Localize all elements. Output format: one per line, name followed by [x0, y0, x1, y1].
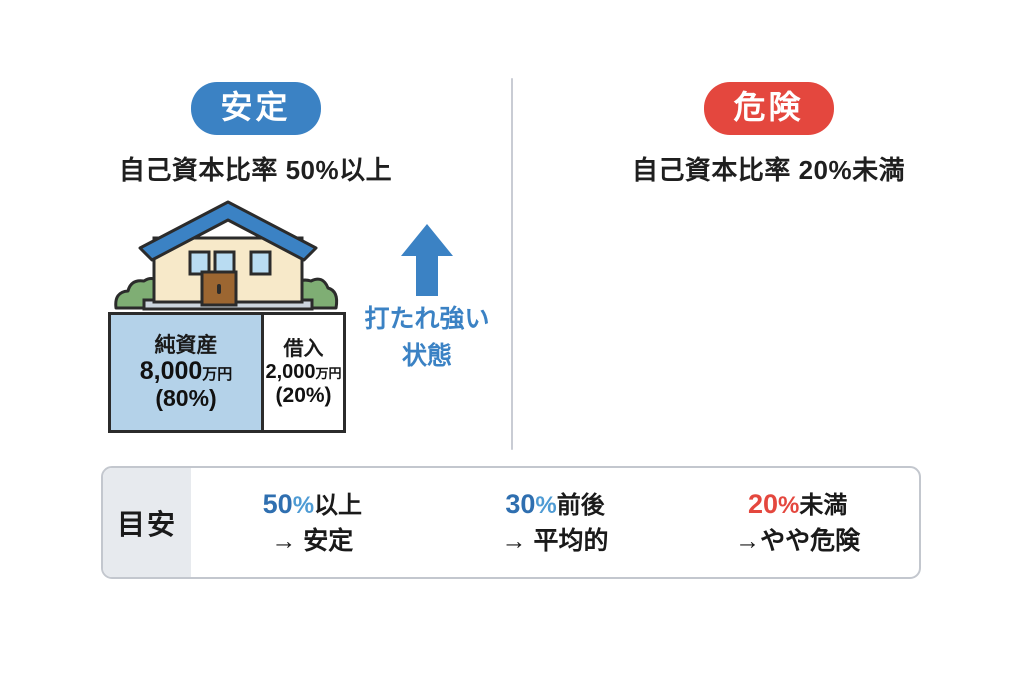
guideline-suffix-30: 前後	[557, 492, 605, 519]
guideline-result-30: → 平均的	[434, 525, 677, 559]
guideline-items: 50%以上 → 安定 30%前後 → 平均的 20%未満 →やや危険	[191, 468, 919, 577]
house-illustration-healthy	[108, 196, 348, 321]
capital-bar-stable: 純資産 8,000万円 (80%) 借入 2,000万円 (20%)	[108, 312, 346, 433]
guideline-heading-cell: 目安	[103, 468, 191, 577]
annotation-line2-stable: 状態	[352, 341, 502, 372]
guideline-item-30: 30%前後 → 平均的	[434, 486, 677, 559]
guideline-percent-50: %	[293, 492, 314, 519]
status-badge-stable: 安定	[190, 82, 320, 135]
guideline-item-20: 20%未満 →やや危険	[676, 486, 919, 559]
guideline-threshold-30: 30%前後	[434, 486, 677, 522]
debt-amount: 2,000万円	[265, 361, 341, 383]
debt-unit: 万円	[316, 366, 342, 381]
bar-segment-debt: 借入 2,000万円 (20%)	[261, 315, 343, 430]
guideline-suffix-50: 以上	[314, 492, 362, 519]
equity-label: 純資産	[155, 334, 218, 357]
guideline-number-50: 50	[263, 489, 293, 519]
guideline-percent-20: %	[778, 492, 799, 519]
guideline-result-50: → 安定	[191, 525, 434, 559]
guideline-heading: 目安	[117, 503, 177, 543]
guideline-threshold-50: 50%以上	[191, 486, 434, 522]
subtitle-stable: 自己資本比率 50%以上	[119, 150, 392, 187]
equity-percent: (80%)	[155, 386, 216, 411]
equity-unit: 万円	[202, 366, 232, 383]
infographic-canvas: 安定 自己資本比率 50%以上	[0, 0, 1024, 683]
annotation-line1-stable: 打たれ強い	[352, 304, 502, 335]
annotation-stable: 打たれ強い 状態	[352, 222, 502, 373]
guideline-number-20: 20	[748, 489, 778, 519]
guideline-result-20: →やや危険	[676, 525, 919, 559]
debt-label: 借入	[284, 338, 324, 360]
equity-amount: 8,000万円	[140, 358, 233, 386]
panel-stable: 安定 自己資本比率 50%以上	[0, 0, 511, 455]
status-badge-risky: 危険	[703, 82, 833, 135]
guideline-percent-30: %	[535, 492, 556, 519]
subtitle-risky: 自己資本比率 20%未満	[632, 150, 905, 187]
guideline-suffix-20: 未満	[799, 492, 847, 519]
panel-risky: 危険 自己資本比率 20%未満	[513, 0, 1024, 455]
bar-segment-equity: 純資産 8,000万円 (80%)	[111, 315, 261, 430]
debt-percent: (20%)	[276, 384, 332, 407]
arrow-up-icon	[399, 222, 455, 298]
guideline-threshold-20: 20%未満	[676, 486, 919, 522]
guideline-number-30: 30	[505, 489, 535, 519]
guideline-item-50: 50%以上 → 安定	[191, 486, 434, 559]
healthy-house-svg	[108, 196, 348, 316]
guideline-panel: 目安 50%以上 → 安定 30%前後 → 平均的 20%未満 →やや危険	[101, 466, 921, 579]
